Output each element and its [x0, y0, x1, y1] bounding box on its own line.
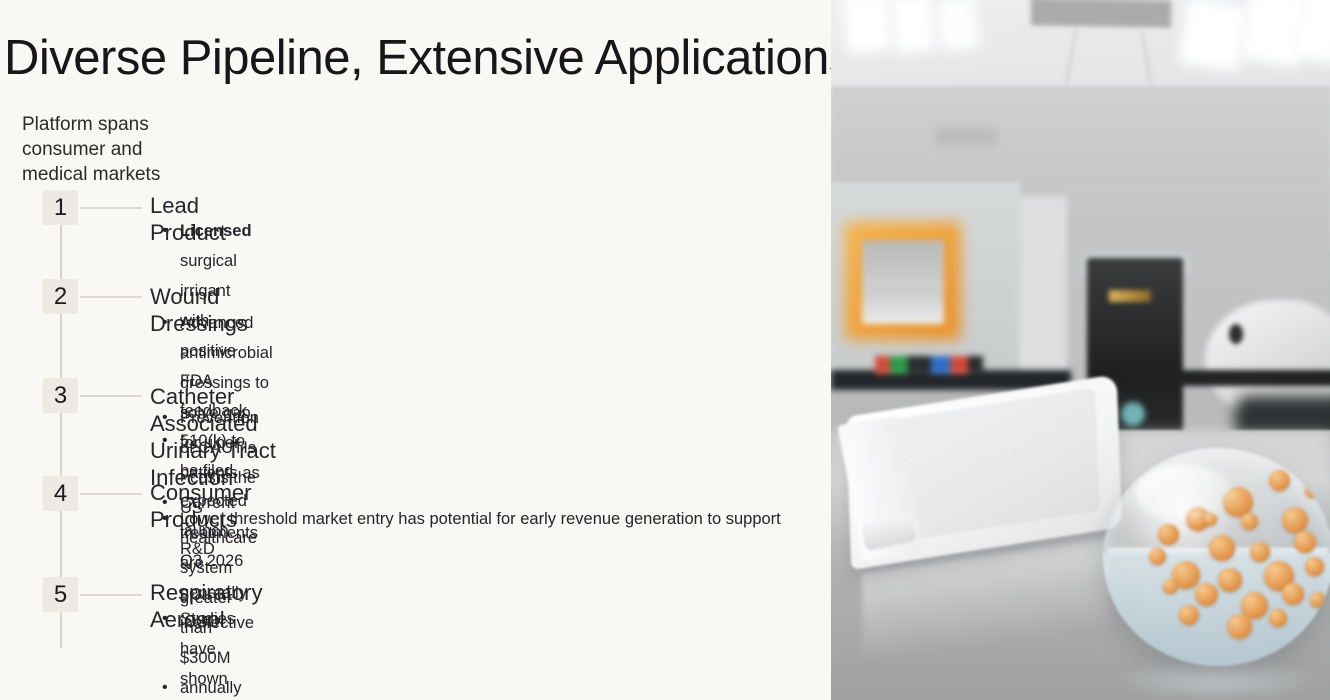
pipeline-timeline: 1 Lead Product Licensed surgical irrigan… [0, 0, 831, 700]
orange-sphere [1310, 592, 1326, 608]
orange-sphere [1209, 535, 1235, 561]
step-connector-1 [80, 207, 142, 209]
orange-sphere [1227, 614, 1252, 639]
ceiling-light [890, 0, 936, 54]
bullet-text: Studies have shown non-toxic effect on h… [180, 610, 260, 700]
orange-sphere [1269, 470, 1290, 491]
step-connector-3 [80, 395, 142, 397]
ceiling-light [842, 0, 892, 54]
furnace-window [862, 240, 944, 324]
orange-sphere [1269, 609, 1287, 627]
step-bullets-5: Studies have shown non-toxic effect on h… [158, 604, 262, 700]
orange-sphere [1294, 531, 1316, 553]
step-number-badge-2: 2 [43, 279, 78, 314]
ceiling-light [936, 0, 979, 52]
orange-sphere [1282, 507, 1308, 533]
orange-sphere [1158, 524, 1179, 545]
step-connector-2 [80, 296, 142, 298]
step-number-badge-3: 3 [43, 378, 78, 413]
wall-sign [935, 128, 997, 146]
bullet-bold-lead: Licensed [180, 222, 252, 240]
orange-sphere [1241, 513, 1258, 530]
ceiling-vent [1027, 0, 1176, 31]
list-item: Studies have shown non-toxic effect on h… [158, 604, 262, 700]
step-number-badge-5: 5 [43, 577, 78, 612]
content-panel: Diverse Pipeline, Extensive Applications… [0, 0, 831, 700]
ceiling-light [1178, 0, 1248, 72]
equipment-indicator [1121, 402, 1145, 426]
orange-sphere [1250, 542, 1270, 562]
step-number-badge-1: 1 [43, 190, 78, 225]
step-number-badge-4: 4 [43, 476, 78, 511]
slide: Diverse Pipeline, Extensive Applications… [0, 0, 1330, 700]
equipment-display [1109, 290, 1151, 302]
bench-edge-right [1143, 370, 1330, 386]
lab-photo [831, 0, 1330, 700]
orange-sphere [1163, 579, 1178, 594]
indicator-lights [875, 356, 983, 374]
step-connector-4 [80, 493, 142, 495]
step-connector-5 [80, 594, 142, 596]
bullet-text: Lower threshold market entry has potenti… [180, 510, 781, 558]
orange-sphere [1218, 568, 1242, 592]
orange-sphere [1195, 583, 1218, 606]
sphere-highlight [1135, 465, 1232, 522]
list-item: Lower threshold market entry has potenti… [158, 504, 788, 564]
step-bullets-4: Lower threshold market entry has potenti… [158, 504, 788, 564]
orange-sphere [1179, 605, 1199, 625]
side-column [1019, 196, 1067, 376]
arm-joint [1229, 324, 1243, 344]
glass-sphere [1103, 448, 1330, 666]
sphere-water [1103, 553, 1330, 666]
